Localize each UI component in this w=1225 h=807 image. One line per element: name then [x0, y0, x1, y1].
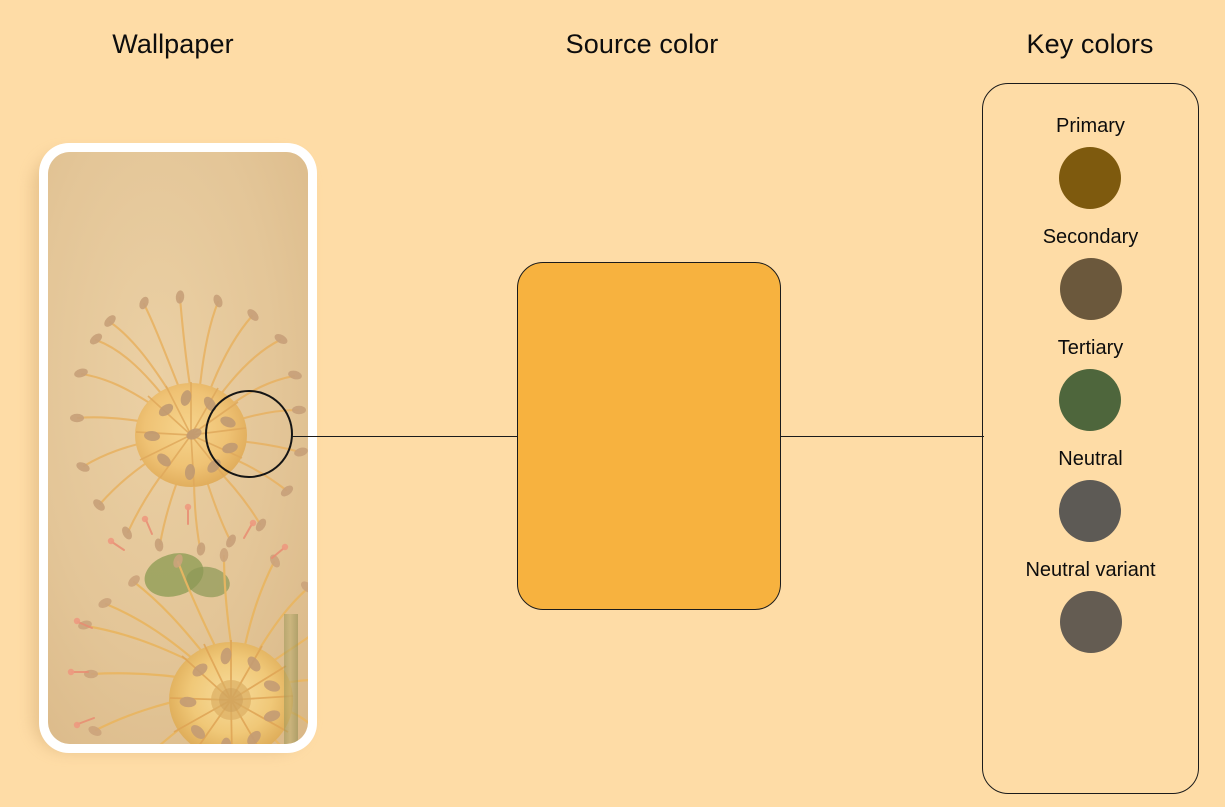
key-color-item-secondary: Secondary — [1043, 226, 1139, 320]
key-color-label: Neutral — [1058, 448, 1122, 471]
diagram-canvas: Wallpaper Source color Key colors — [0, 0, 1225, 807]
color-sample-ring — [205, 390, 293, 478]
key-color-label: Neutral variant — [1025, 559, 1155, 582]
connector-line-source-to-key-colors — [780, 436, 984, 437]
column-heading-key-colors: Key colors — [1026, 29, 1153, 60]
key-color-label: Primary — [1056, 115, 1125, 138]
column-heading-source-color: Source color — [566, 29, 719, 60]
key-color-dot-secondary — [1060, 258, 1122, 320]
connector-line-wallpaper-to-source — [292, 436, 518, 437]
key-color-dot-neutral — [1059, 480, 1121, 542]
key-color-item-primary: Primary — [1056, 115, 1125, 209]
key-colors-panel: Primary Secondary Tertiary Neutral Neutr… — [982, 83, 1199, 794]
key-color-label: Tertiary — [1058, 337, 1124, 360]
key-color-item-tertiary: Tertiary — [1058, 337, 1124, 431]
source-color-swatch — [517, 262, 781, 610]
key-color-dot-primary — [1059, 147, 1121, 209]
column-heading-wallpaper: Wallpaper — [112, 29, 233, 60]
key-color-dot-tertiary — [1059, 369, 1121, 431]
key-color-item-neutral-variant: Neutral variant — [1025, 559, 1155, 653]
key-color-label: Secondary — [1043, 226, 1139, 249]
key-color-item-neutral: Neutral — [1058, 448, 1122, 542]
key-color-dot-neutral-variant — [1060, 591, 1122, 653]
